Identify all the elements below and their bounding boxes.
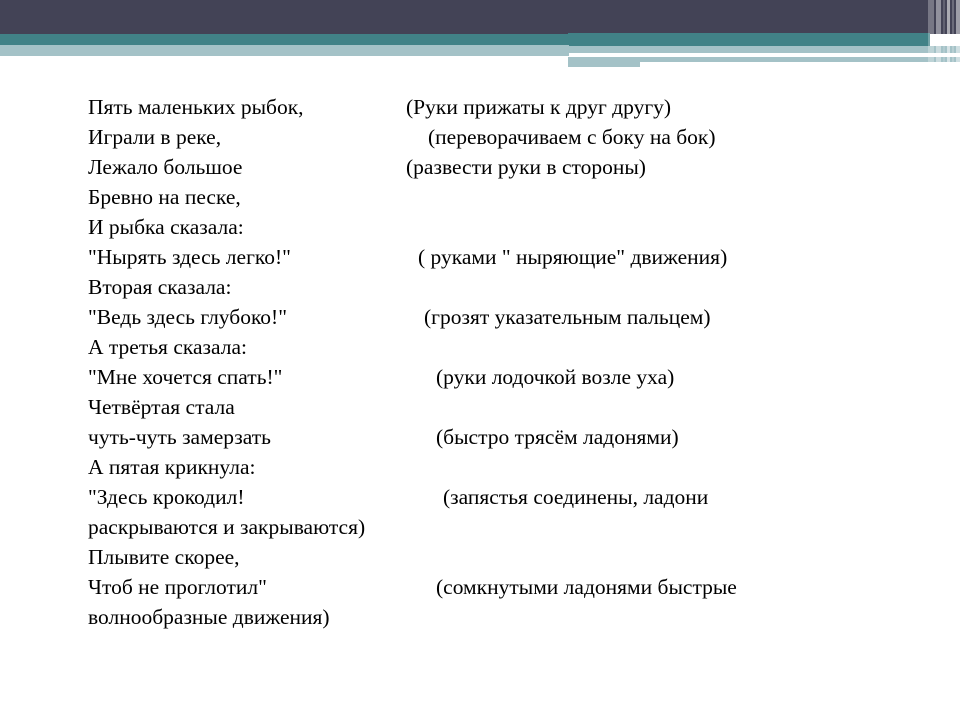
poem-line-text: И рыбка сказала: <box>88 212 244 242</box>
poem-line: "Ведь здесь глубоко!"(грозят указательны… <box>88 302 918 332</box>
poem-line-gesture-note: (переворачиваем с боку на бок) <box>428 122 716 152</box>
accent-stripe-1 <box>928 0 934 68</box>
poem-line: "Мне хочется спать!"(руки лодочкой возле… <box>88 362 918 392</box>
poem-line-text: "Нырять здесь легко!" <box>88 242 291 272</box>
poem-line-text: Плывите скорее, <box>88 542 240 572</box>
poem-line-text: Лежало большое <box>88 152 242 182</box>
poem-line: Играли в реке,(переворачиваем с боку на … <box>88 122 918 152</box>
poem-line: Лежало большое(развести руки в стороны) <box>88 152 918 182</box>
poem-line-gesture-note: (запястья соединены, ладони <box>443 482 708 512</box>
poem-line-text: А пятая крикнула: <box>88 452 255 482</box>
poem-line-text: волнообразные движения) <box>88 602 330 632</box>
poem-line-text: чуть-чуть замерзать <box>88 422 271 452</box>
poem-line-gesture-note: (сомкнутыми ладонями быстрые <box>436 572 737 602</box>
banner-band-dark <box>0 0 960 34</box>
poem-line-text: Вторая сказала: <box>88 272 231 302</box>
poem-line: А пятая крикнула: <box>88 452 918 482</box>
poem-line: раскрываются и закрываются) <box>88 512 918 542</box>
poem-line-text: "Здесь крокодил! <box>88 482 245 512</box>
poem-line: "Нырять здесь легко!"( руками " ныряющие… <box>88 242 918 272</box>
poem-line-text: "Ведь здесь глубоко!" <box>88 302 287 332</box>
poem-line: А третья сказала: <box>88 332 918 362</box>
poem-line: "Здесь крокодил!(запястья соединены, лад… <box>88 482 918 512</box>
poem-body: Пять маленьких рыбок,(Руки прижаты к дру… <box>88 92 918 632</box>
poem-line-gesture-note: (Руки прижаты к друг другу) <box>406 92 671 122</box>
accent-stripe-5 <box>952 0 954 68</box>
accent-stripe-2 <box>936 0 941 68</box>
slide: Пять маленьких рыбок,(Руки прижаты к дру… <box>0 0 960 720</box>
poem-line: Плывите скорее, <box>88 542 918 572</box>
poem-line: И рыбка сказала: <box>88 212 918 242</box>
poem-line-text: Бревно на песке, <box>88 182 241 212</box>
poem-line-gesture-note: (развести руки в стороны) <box>406 152 646 182</box>
poem-line-text: раскрываются и закрываются) <box>88 512 365 542</box>
banner-band-pale-left <box>0 45 569 56</box>
poem-line-text: Четвёртая стала <box>88 392 235 422</box>
decorative-banner <box>0 0 960 80</box>
banner-band-teal-left <box>0 34 569 45</box>
poem-line-text: Чтоб не проглотил" <box>88 572 267 602</box>
poem-line-text: Играли в реке, <box>88 122 221 152</box>
banner-band-pale-right-upper <box>568 46 960 53</box>
poem-line: Четвёртая стала <box>88 392 918 422</box>
poem-line-text: А третья сказала: <box>88 332 247 362</box>
poem-line: Бревно на песке, <box>88 182 918 212</box>
accent-stripe-4 <box>947 0 950 68</box>
banner-band-teal-right <box>568 33 930 46</box>
poem-line: Чтоб не проглотил"(сомкнутыми ладонями б… <box>88 572 918 602</box>
poem-line-gesture-note: (руки лодочкой возле уха) <box>436 362 674 392</box>
poem-line-text: Пять маленьких рыбок, <box>88 92 304 122</box>
accent-stripe-3 <box>943 0 945 68</box>
accent-stripe-6 <box>956 0 960 68</box>
poem-line-gesture-note: (грозят указательным пальцем) <box>424 302 711 332</box>
poem-line-text: "Мне хочется спать!" <box>88 362 282 392</box>
poem-line: чуть-чуть замерзать(быстро трясём ладоня… <box>88 422 918 452</box>
poem-line-gesture-note: ( руками " ныряющие" движения) <box>418 242 727 272</box>
poem-line: Вторая сказала: <box>88 272 918 302</box>
poem-line: Пять маленьких рыбок,(Руки прижаты к дру… <box>88 92 918 122</box>
poem-line-gesture-note: (быстро трясём ладонями) <box>436 422 679 452</box>
poem-line: волнообразные движения) <box>88 602 918 632</box>
banner-white-notch <box>640 62 960 68</box>
